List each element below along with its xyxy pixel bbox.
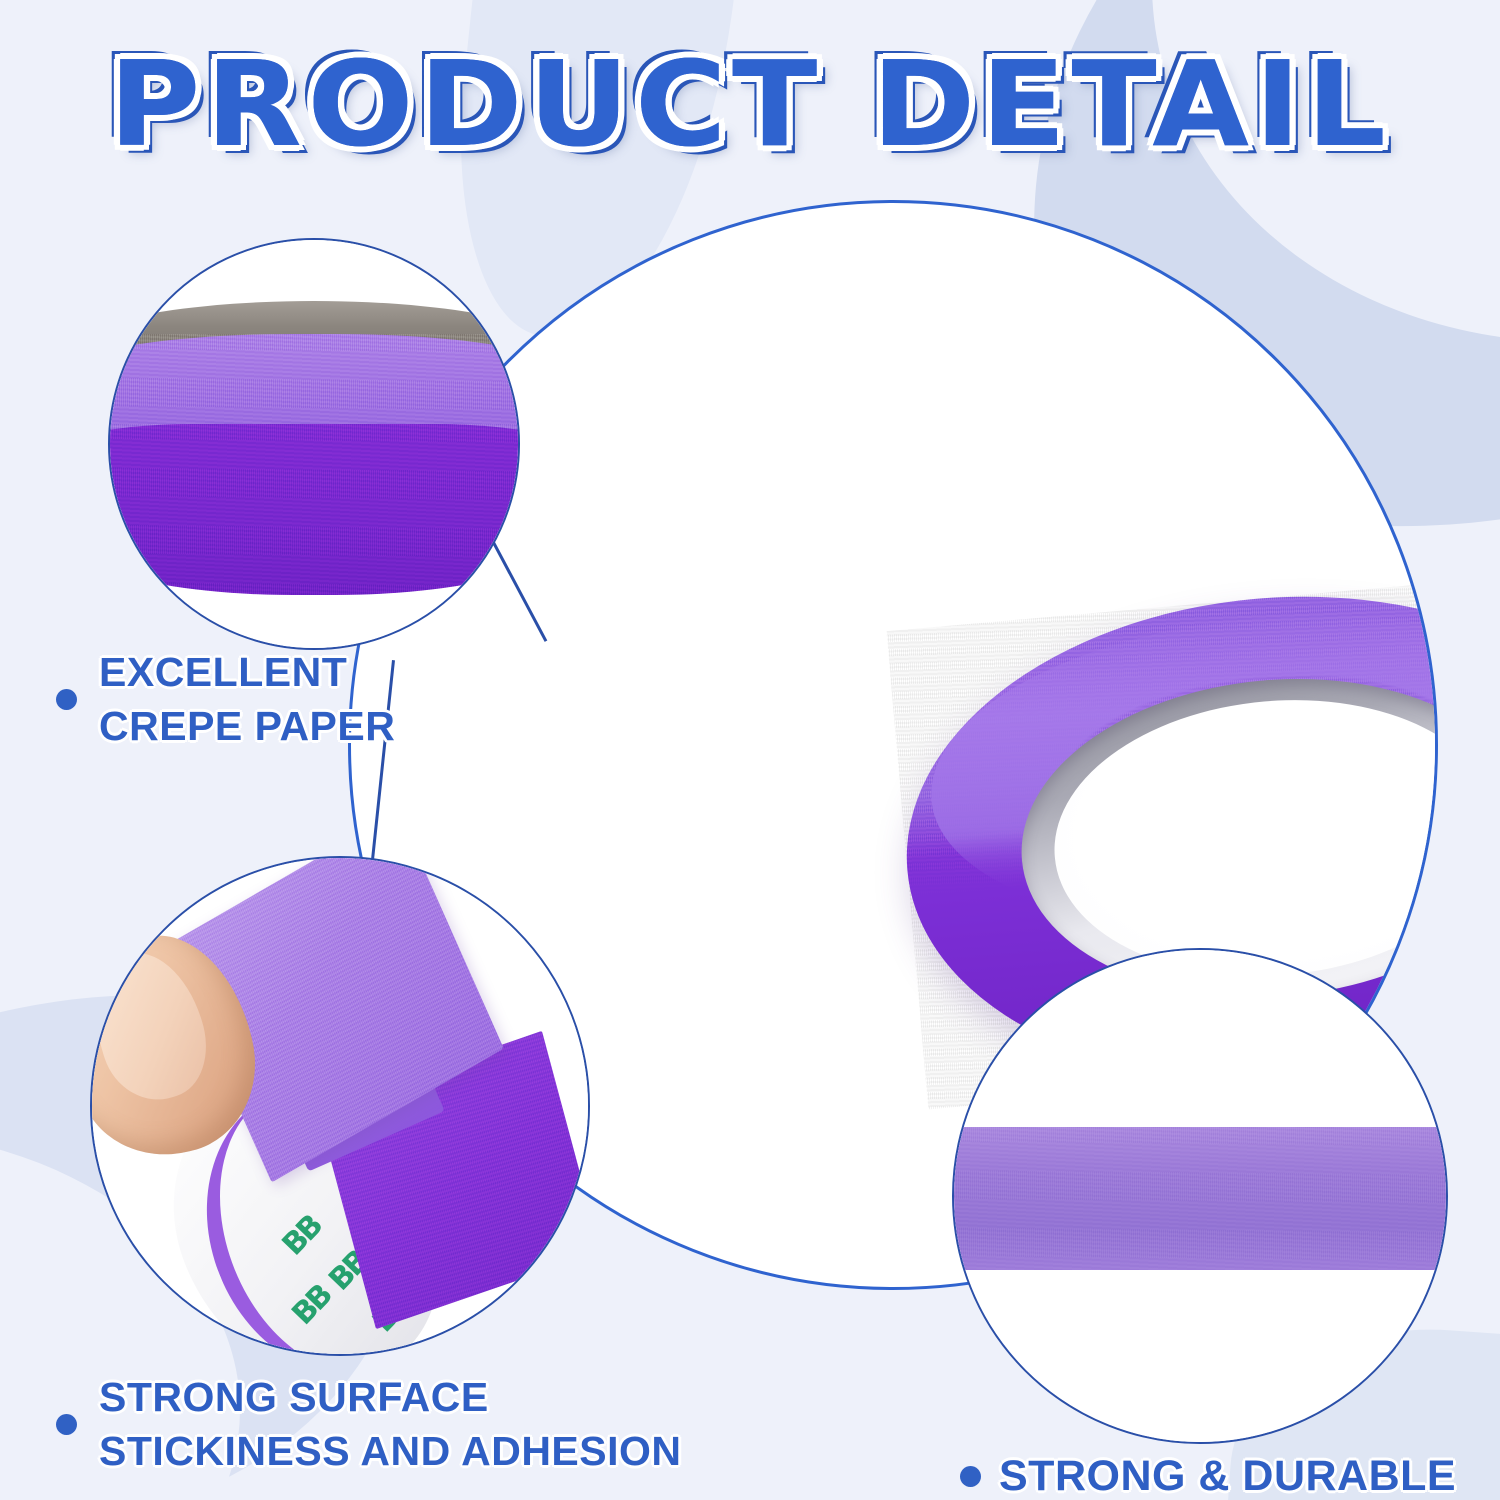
callout-excellent-crepe-paper: EXCELLENT CREPE PAPER — [56, 645, 395, 753]
page-title: PRODUCT DETAIL — [0, 44, 1500, 164]
thumb-peeling-tape-photo: BB BB BB BB — [92, 858, 588, 1354]
callout-label-text: STRONG SURFACE STICKINESS AND ADHESION — [99, 1370, 682, 1478]
tape-strip-flat-photo — [954, 950, 1446, 1442]
page-title-text: PRODUCT DETAIL — [109, 44, 1392, 164]
callout-strong-durable: STRONG & DURABLE — [960, 1448, 1456, 1500]
callout-label-text: STRONG & DURABLE — [999, 1448, 1456, 1500]
inset-tape-strip-flat — [952, 948, 1448, 1444]
crepe-texture-overlay — [108, 424, 520, 595]
dot-bullet-icon — [56, 689, 77, 710]
purple-tape-strip — [952, 1127, 1448, 1270]
tape-edge-macro-photo — [110, 240, 518, 648]
inset-tape-edge-macro — [108, 238, 520, 650]
crepe-texture-overlay — [952, 1127, 1448, 1270]
dot-bullet-icon — [56, 1414, 77, 1435]
callout-label-text: EXCELLENT CREPE PAPER — [99, 645, 395, 753]
tape-dark-purple-side — [108, 424, 520, 595]
dot-bullet-icon — [960, 1466, 981, 1487]
product-detail-infographic: PRODUCT DETAIL — [0, 0, 1500, 1500]
inset-thumb-peeling-tape: BB BB BB BB — [90, 856, 590, 1356]
callout-strong-surface: STRONG SURFACE STICKINESS AND ADHESION — [56, 1370, 682, 1478]
